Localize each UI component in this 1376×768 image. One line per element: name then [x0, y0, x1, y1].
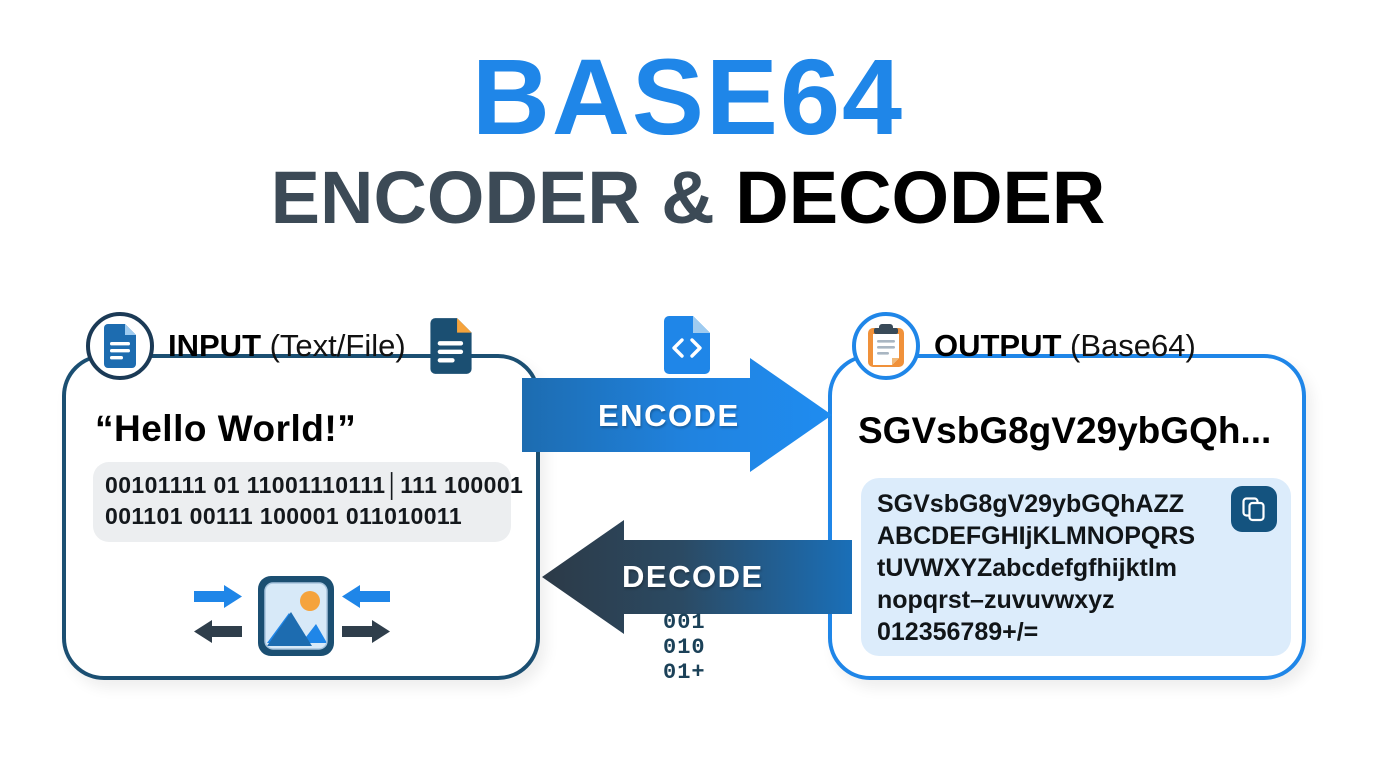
clipboard-icon [866, 323, 906, 369]
arrow-left-top-right [342, 585, 390, 608]
base64-line: tUVWXYZabcdefgfhijktlm [877, 552, 1275, 584]
document-folded-corner-icon [428, 318, 474, 374]
bit-line: 01+ [663, 660, 706, 685]
binary-line: 001101 00111 100001 011010011 [105, 501, 499, 532]
output-label-light: (Base64) [1061, 328, 1195, 363]
bit-line: 010 [663, 635, 706, 660]
copy-icon [1241, 496, 1267, 522]
arrow-left-bottom-left [194, 620, 242, 643]
output-card-header: OUTPUT (Base64) [852, 312, 1196, 380]
input-badge [86, 312, 154, 380]
output-badge [852, 312, 920, 380]
encode-label: ENCODE [598, 398, 740, 434]
arrow-right-top-left [194, 585, 242, 608]
page-subtitle: ENCODER & DECODER [0, 159, 1376, 237]
subtitle-ampersand: & [641, 156, 736, 239]
input-label-strong: INPUT [168, 328, 261, 363]
code-file-icon [662, 316, 712, 374]
decode-label: DECODE [622, 559, 764, 595]
bit-line: 001 [663, 610, 706, 635]
input-binary-box: 00101111 01 11001110111│111 100001 00110… [93, 462, 511, 542]
output-base64-panel: SGVsbG8gV29ybGQhAZZ ABCDEFGHIjKLMNOPQRS … [861, 478, 1291, 656]
page-title: BASE64 [0, 40, 1376, 153]
binary-line: 00101111 01 11001110111│111 100001 [105, 470, 499, 501]
base64-line: nopqrst–zuvuvwxyz [877, 584, 1275, 616]
subtitle-decoder: DECODER [735, 156, 1105, 239]
document-icon [101, 324, 139, 368]
output-label-strong: OUTPUT [934, 328, 1061, 363]
copy-button[interactable] [1231, 486, 1277, 532]
title-block: BASE64 ENCODER & DECODER [0, 40, 1376, 237]
base64-line: SGVsbG8gV29ybGQhAZZ [877, 488, 1275, 520]
arrow-right-bottom-right [342, 620, 390, 643]
input-label-light: (Text/File) [261, 328, 406, 363]
image-swap-icon [186, 572, 398, 664]
output-label: OUTPUT (Base64) [934, 328, 1196, 364]
binary-bits-stack: 001 010 01+ [663, 610, 706, 685]
base64-line: ABCDEFGHIjKLMNOPQRS [877, 520, 1275, 552]
input-card-header: INPUT (Text/File) [86, 312, 474, 380]
subtitle-encoder: ENCODER [271, 156, 641, 239]
base64-line: 012356789+/= [877, 616, 1275, 648]
input-label: INPUT (Text/File) [168, 328, 406, 364]
input-sample-text: “Hello World!” [95, 408, 356, 450]
output-preview-text: SGVsbG8gV29ybGQh... [858, 410, 1271, 452]
